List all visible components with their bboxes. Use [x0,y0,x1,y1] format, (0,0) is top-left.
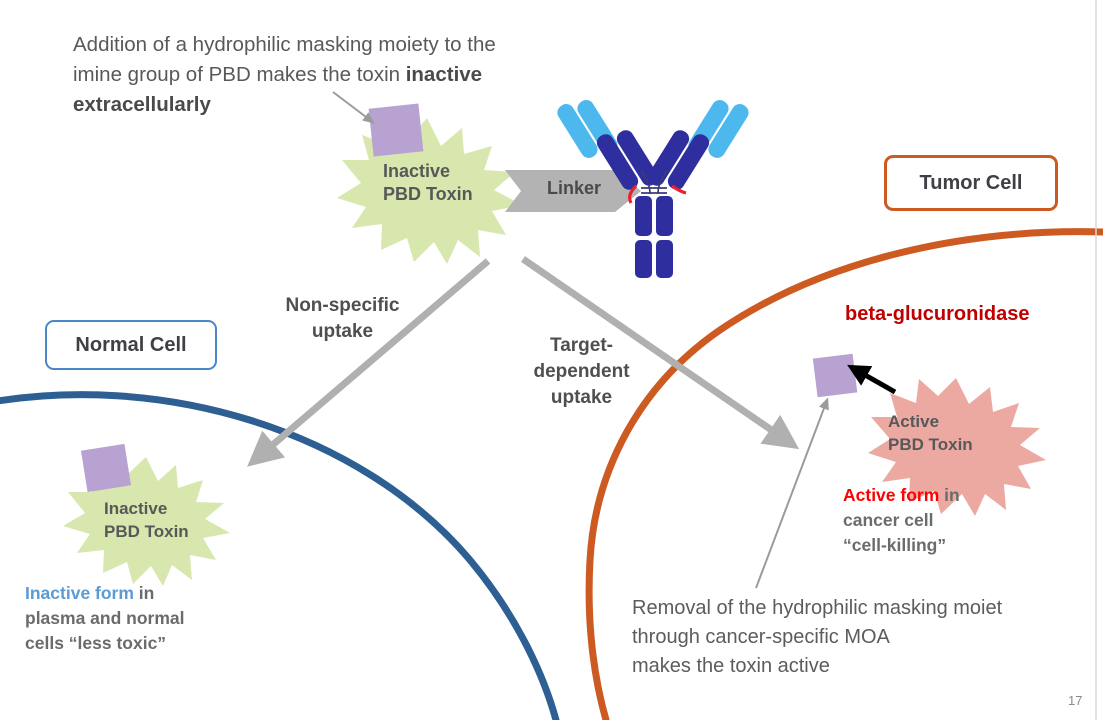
tumor-cell-caption-line3: “cell-killing” [843,533,1078,558]
tumor-cell-caption-line2: cancer cell [843,508,1078,533]
header-note-line3-bold: extracellularly [73,93,211,116]
toxin-label-normal-line1: Inactive [104,497,189,520]
normal-cell-label-box[interactable]: Normal Cell [45,320,217,370]
beta-glucuronidase-label: beta-glucuronidase [845,303,1029,326]
tumor-cell-caption-rest1: in [939,485,959,505]
header-note-line2-plain: imine group of PBD makes the toxin [73,63,406,86]
target-dependent-uptake-label: Target- dependent uptake [513,333,650,411]
non-specific-uptake-arrow [262,261,488,454]
normal-cell-caption-rest1: in [134,583,154,603]
bottom-note: Removal of the hydrophilic masking moiet… [632,594,1096,681]
toxin-label-top-line1: Inactive [383,160,473,183]
masking-moiety-removed-tumor [813,354,857,398]
header-note: Addition of a hydrophilic masking moiety… [73,30,633,120]
linker-label: Linker [526,178,622,199]
bottom-note-line1: Removal of the hydrophilic masking moiet [632,594,1096,623]
target-dependent-uptake-line1: Target- [513,333,650,359]
toxin-label-active-line2: PBD Toxin [888,433,973,456]
tumor-cell-label-box[interactable]: Tumor Cell [884,155,1058,211]
normal-cell-caption: Inactive form in plasma and normal cells… [25,581,275,656]
bottom-note-line3: makes the toxin active [632,652,1096,681]
target-dependent-uptake-line3: uptake [513,385,650,411]
header-note-line1: Addition of a hydrophilic masking moiety… [73,33,496,56]
page-number: 17 [1068,693,1082,708]
beta-glucuronidase-cleavage-arrow [858,371,895,392]
bottom-note-clip: Removal of the hydrophilic masking moiet… [632,594,1096,704]
non-specific-uptake-label: Non-specific uptake [260,293,425,345]
bottom-note-line2: through cancer-specific MOA [632,623,1096,652]
target-dependent-uptake-line2: dependent [513,359,650,385]
tumor-cell-caption: Active form in cancer cell “cell-killing… [843,483,1078,558]
inactive-pbd-toxin-label-normal-cell: Inactive PBD Toxin [104,497,189,543]
slide-canvas: Addition of a hydrophilic masking moiety… [0,0,1103,720]
inactive-pbd-toxin-label-top: Inactive PBD Toxin [383,160,473,206]
header-note-line2-bold: inactive [406,63,482,86]
tumor-cell-caption-highlight: Active form [843,485,939,505]
toxin-label-normal-line2: PBD Toxin [104,520,189,543]
toxin-label-top-line2: PBD Toxin [383,183,473,206]
active-pbd-toxin-label: Active PBD Toxin [888,410,973,456]
masking-moiety-normal-cell [81,444,131,492]
normal-cell-caption-line3: cells “less toxic” [25,631,275,656]
toxin-label-active-line1: Active [888,410,973,433]
normal-cell-caption-highlight: Inactive form [25,583,134,603]
non-specific-uptake-line2: uptake [260,319,425,345]
non-specific-uptake-line1: Non-specific [260,293,425,319]
normal-cell-caption-line2: plasma and normal [25,606,275,631]
